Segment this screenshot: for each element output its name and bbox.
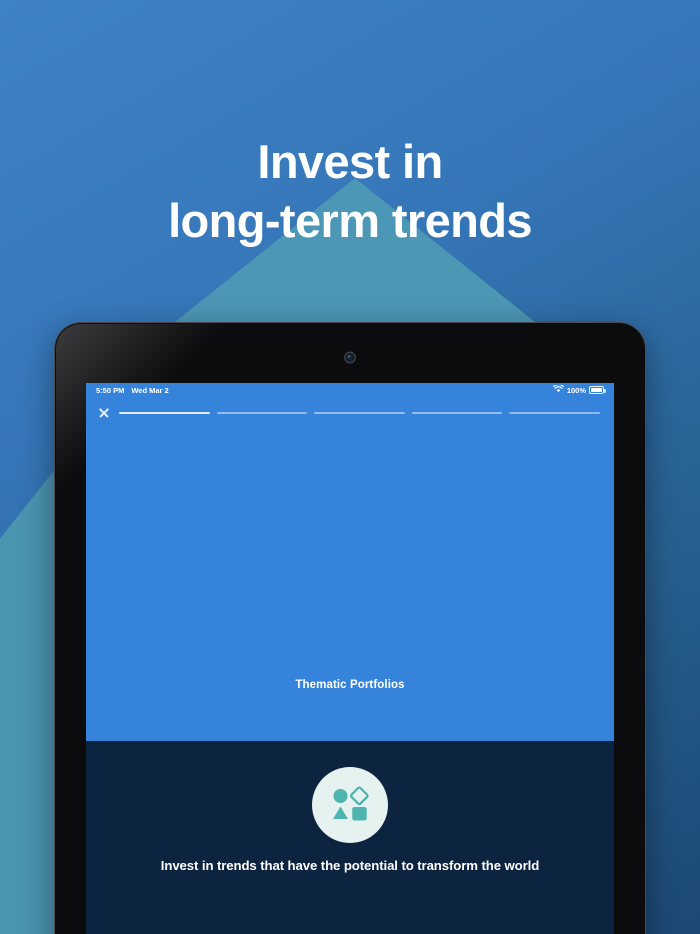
- progress-segment[interactable]: [217, 412, 308, 414]
- status-bar-right: 100%: [553, 385, 604, 395]
- tablet-device-frame: 5:50 PM Wed Mar 2 100%: [55, 323, 645, 934]
- progress-segments[interactable]: [119, 412, 604, 414]
- battery-fill: [591, 388, 602, 392]
- headline-line-1: Invest in: [257, 135, 442, 188]
- battery-percent-label: 100%: [567, 386, 586, 395]
- status-date: Wed Mar 2: [131, 386, 168, 395]
- promo-headline: Invest in long-term trends: [0, 132, 700, 250]
- onboarding-topbar: [86, 397, 614, 419]
- front-camera-icon: [346, 353, 355, 362]
- device-screen: 5:50 PM Wed Mar 2 100%: [86, 383, 614, 934]
- hero-tagline: Invest in trends that have the potential…: [86, 858, 614, 873]
- shapes-icon: [312, 767, 388, 843]
- progress-segment[interactable]: [509, 412, 600, 414]
- headline-line-2: long-term trends: [0, 191, 700, 250]
- progress-segment[interactable]: [119, 412, 210, 414]
- progress-segment[interactable]: [314, 412, 405, 414]
- close-icon[interactable]: [98, 407, 110, 419]
- status-time: 5:50 PM: [96, 386, 124, 395]
- wifi-icon: [553, 385, 564, 395]
- status-bar-left: 5:50 PM Wed Mar 2: [96, 386, 169, 395]
- hero-eyebrow-label: Thematic Portfolios: [86, 679, 614, 691]
- battery-icon: [589, 386, 604, 394]
- status-bar: 5:50 PM Wed Mar 2 100%: [86, 383, 614, 397]
- progress-segment[interactable]: [412, 412, 503, 414]
- promo-screenshot: Invest in long-term trends 5:50 PM Wed M…: [0, 0, 700, 934]
